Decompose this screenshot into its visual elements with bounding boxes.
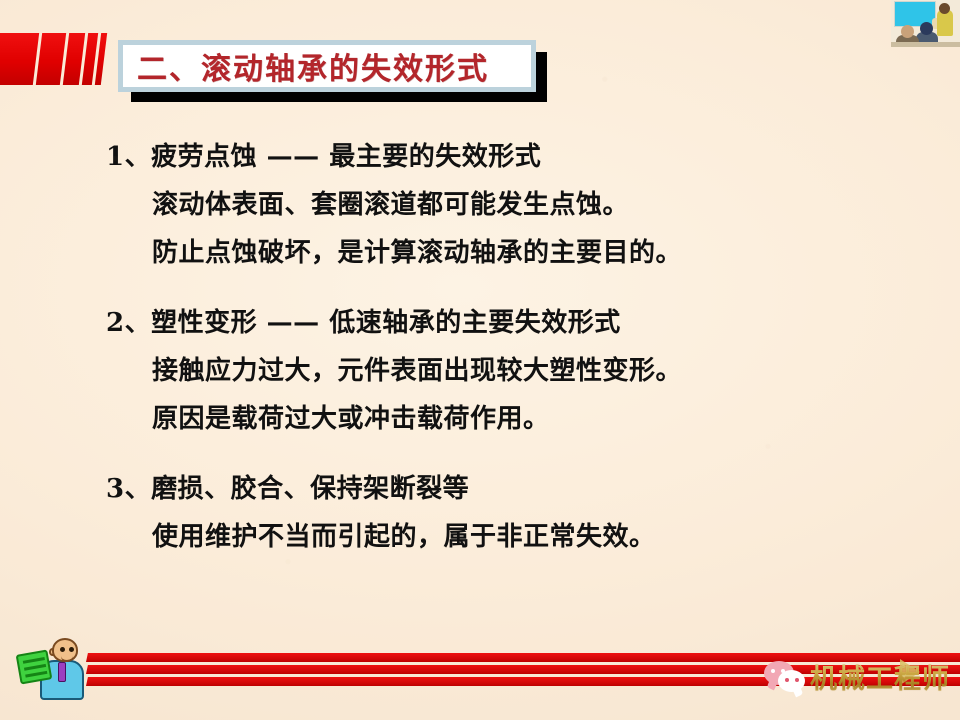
wechat-dot-1 — [771, 669, 775, 673]
desk-shape — [891, 42, 960, 47]
list-item-line: 防止点蚀破坏，是计算滚动轴承的主要目的。 — [106, 229, 906, 277]
classroom-teaching-icon — [891, 0, 960, 47]
footer-logo: 机械工程师 — [760, 655, 958, 701]
slide-canvas: 二、滚动轴承的失效形式 1、疲劳点蚀 —— 最主要的失效形式 滚动体表面、套圈滚… — [0, 0, 960, 720]
list-item-number: 1、 — [106, 142, 151, 172]
list-item-first-line: 3、磨损、胶合、保持架断裂等 — [106, 465, 906, 513]
list-item-first-line: 1、疲劳点蚀 —— 最主要的失效形式 — [106, 133, 906, 181]
student-two-head-shape — [920, 22, 933, 35]
title-box: 二、滚动轴承的失效形式 — [118, 40, 536, 92]
list-item-line-text: 疲劳点蚀 —— 最主要的失效形式 — [151, 142, 541, 172]
list-item: 3、磨损、胶合、保持架断裂等 使用维护不当而引起的，属于非正常失效。 — [106, 465, 906, 561]
list-item-first-line: 2、塑性变形 —— 低速轴承的主要失效形式 — [106, 299, 906, 347]
red-bar-1 — [0, 33, 39, 85]
wechat-dot-2 — [781, 669, 785, 673]
money-icon — [16, 649, 53, 684]
mascot-eye-left — [60, 647, 65, 652]
red-slanted-bars — [0, 33, 105, 85]
list-item-line-text: 磨损、胶合、保持架断裂等 — [151, 474, 469, 504]
red-bar-2 — [36, 33, 66, 85]
mascot-eye-right — [69, 647, 74, 652]
list-item-number: 2、 — [106, 308, 151, 338]
list-item: 2、塑性变形 —— 低速轴承的主要失效形式 接触应力过大，元件表面出现较大塑性变… — [106, 299, 906, 443]
list-item-line: 滚动体表面、套圈滚道都可能发生点蚀。 — [106, 181, 906, 229]
list-item-line-text: 塑性变形 —— 低速轴承的主要失效形式 — [151, 308, 621, 338]
content-body: 1、疲劳点蚀 —— 最主要的失效形式 滚动体表面、套圈滚道都可能发生点蚀。 防止… — [0, 133, 960, 588]
page-title: 二、滚动轴承的失效形式 — [137, 44, 489, 88]
list-item: 1、疲劳点蚀 —— 最主要的失效形式 滚动体表面、套圈滚道都可能发生点蚀。 防止… — [106, 133, 906, 277]
list-item-line: 接触应力过大，元件表面出现较大塑性变形。 — [106, 347, 906, 395]
wechat-icon — [764, 661, 808, 693]
list-item-line: 使用维护不当而引起的，属于非正常失效。 — [106, 513, 906, 561]
list-item-line: 原因是载荷过大或冲击载荷作用。 — [106, 395, 906, 443]
wechat-dot-3 — [785, 678, 789, 682]
cartoon-man-with-money-icon — [16, 636, 94, 708]
mascot-tie-shape — [58, 662, 66, 682]
teacher-head-shape — [939, 3, 950, 14]
student-one-head-shape — [901, 25, 914, 38]
footer-logo-text: 机械工程师 — [810, 657, 950, 696]
wechat-dot-4 — [795, 678, 799, 682]
wechat-bubble-front — [778, 670, 805, 692]
list-item-number: 3、 — [106, 474, 151, 504]
